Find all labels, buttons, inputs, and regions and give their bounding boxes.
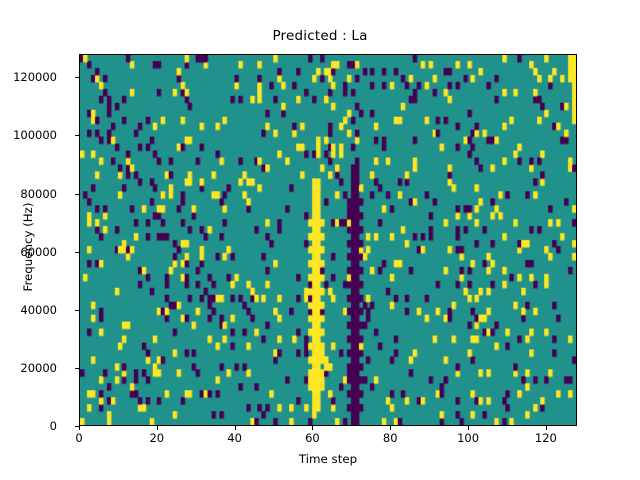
x-tick-mark [79,426,80,430]
y-tick-mark [75,77,79,78]
x-tick-label: 60 [305,431,320,445]
y-tick-mark [75,252,79,253]
y-tick-label: 0 [50,419,57,433]
y-tick-mark [75,135,79,136]
x-tick-mark [157,426,158,430]
chart-title: Predicted : La [0,28,640,44]
y-tick-mark [75,368,79,369]
matplotlib-figure: Predicted : La 0200004000060000800001000… [0,0,640,480]
x-tick-mark [546,426,547,430]
x-axis-label: Time step [79,452,577,466]
x-tick-label: 20 [149,431,164,445]
x-tick-label: 80 [383,431,398,445]
y-axis-label: Frequency (Hz) [21,61,35,433]
x-tick-mark [312,426,313,430]
y-tick-mark [75,194,79,195]
x-tick-label: 100 [457,431,479,445]
y-tick-label: 100000 [13,128,57,142]
x-tick-label: 40 [227,431,242,445]
y-tick-label: 120000 [13,70,57,84]
heatmap-canvas [80,55,576,425]
x-tick-mark [235,426,236,430]
x-tick-label: 0 [75,431,82,445]
x-tick-mark [468,426,469,430]
y-tick-mark [75,310,79,311]
x-tick-label: 120 [535,431,557,445]
heatmap-axes [79,54,577,426]
x-tick-mark [390,426,391,430]
